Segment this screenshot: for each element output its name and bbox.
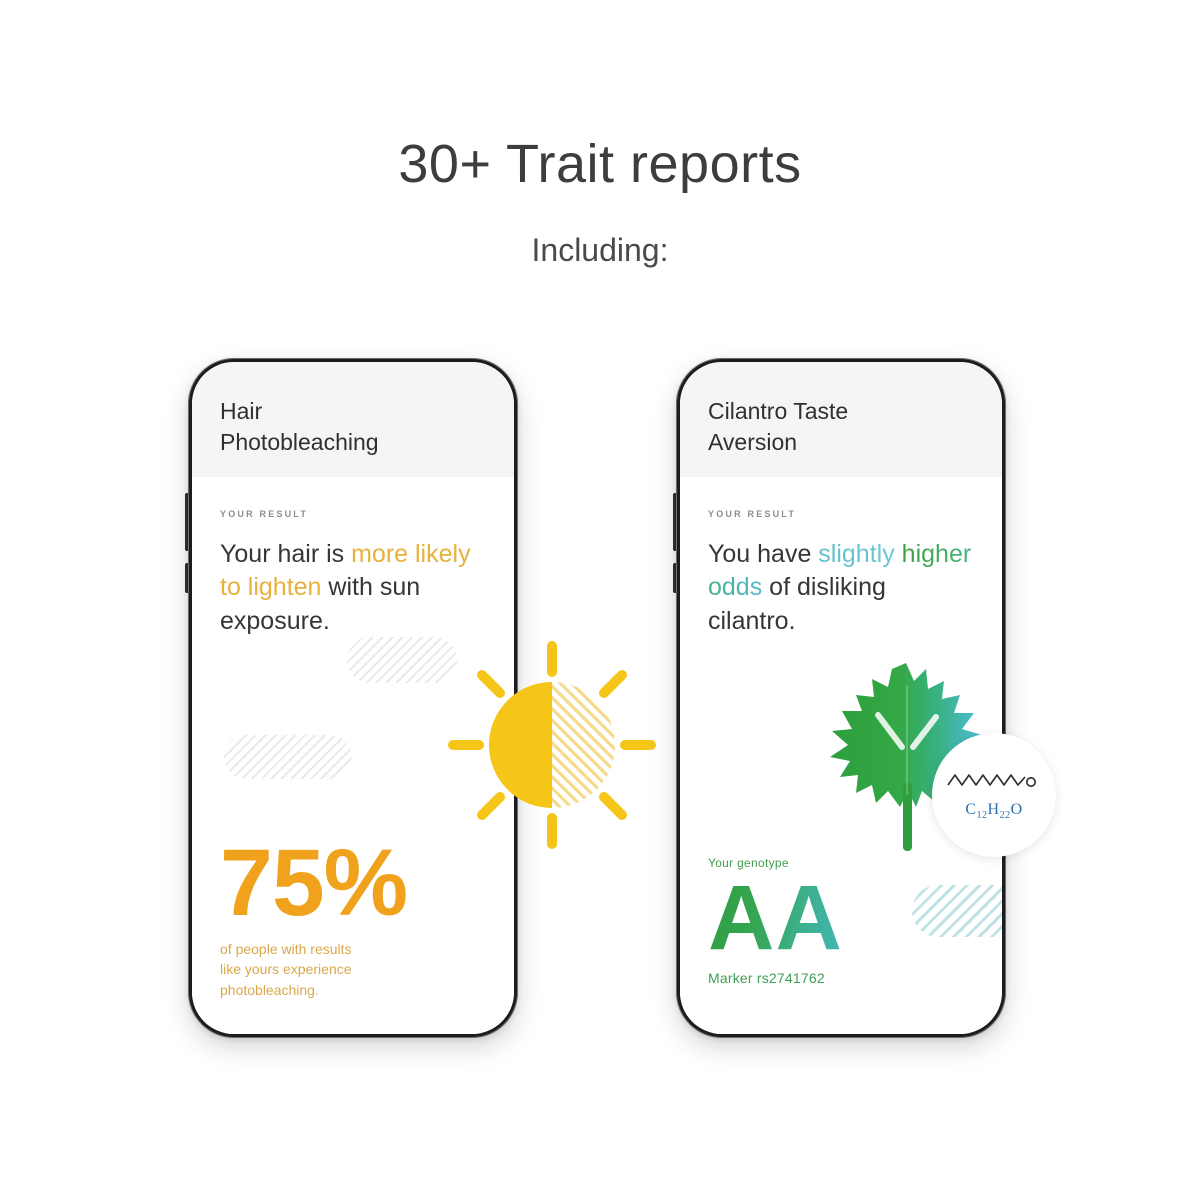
- page-title: 30+ Trait reports: [0, 133, 1200, 195]
- molecule-formula: C12H22O: [965, 801, 1022, 821]
- result-text-part1: Your hair is: [220, 540, 351, 568]
- molecule-badge: C12H22O: [932, 733, 1056, 857]
- formula-carbon-count: 12: [977, 810, 988, 821]
- result-text-highlight-1: slightly: [818, 540, 894, 568]
- promo-page: 30+ Trait reports Including: Hair Photob…: [0, 0, 1200, 1200]
- genotype-marker: Marker rs2741762: [708, 970, 843, 986]
- result-label: YOUR RESULT: [220, 509, 486, 519]
- trait-title: Hair Photobleaching: [220, 396, 486, 458]
- sun-icon: [447, 640, 657, 850]
- trait-title: Cilantro Taste Aversion: [708, 396, 974, 458]
- stat-block: 75% of people with results like yours ex…: [220, 840, 407, 1000]
- genotype-value: AA: [708, 872, 843, 964]
- trait-card-header: Hair Photobleaching: [192, 362, 514, 477]
- phone-side-button: [673, 493, 677, 551]
- trait-card-header: Cilantro Taste Aversion: [680, 362, 1002, 477]
- result-statement: You have slightly higher odds of disliki…: [708, 538, 974, 638]
- formula-hydrogen: H: [988, 801, 1000, 818]
- page-subtitle: Including:: [0, 232, 1200, 269]
- formula-oxygen: O: [1011, 801, 1023, 818]
- decorative-hatch-shape: [912, 885, 1002, 937]
- result-text-part1: You have: [708, 540, 818, 568]
- stat-caption: of people with results like yours experi…: [220, 939, 407, 1000]
- decorative-hatch-shape: [224, 735, 352, 779]
- genotype-block: Your genotype AA Marker rs2741762: [708, 856, 843, 986]
- formula-carbon: C: [965, 801, 976, 818]
- result-label: YOUR RESULT: [708, 509, 974, 519]
- result-statement: Your hair is more likely to lighten with…: [220, 538, 486, 638]
- phone-side-button-secondary: [185, 563, 189, 593]
- phone-side-button: [185, 493, 189, 551]
- phone-side-button-secondary: [673, 563, 677, 593]
- molecule-chain-icon: [946, 769, 1042, 795]
- formula-hydrogen-count: 22: [1000, 810, 1011, 821]
- stat-percentage: 75%: [220, 840, 407, 927]
- decorative-hatch-shape: [347, 637, 457, 683]
